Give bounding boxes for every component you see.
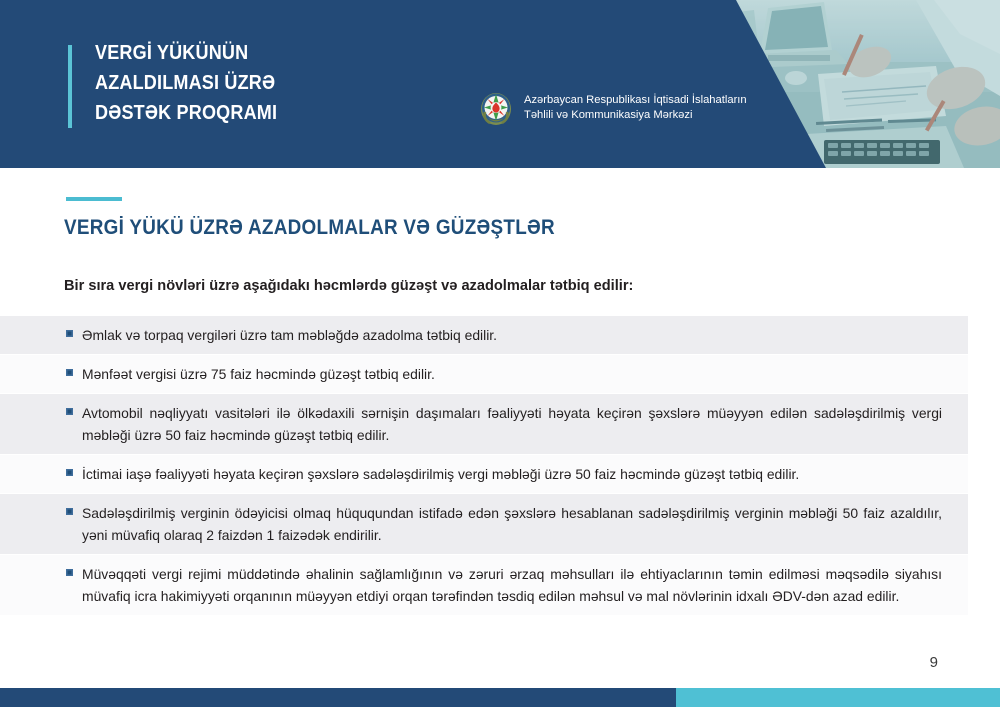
list-item-text: Müvəqqəti vergi rejimi müddətində əhalin… [66,563,942,607]
footer-bar-right [676,688,1000,707]
program-title-line-3: DƏSTƏK PROQRAMI [95,98,412,128]
list-item: Əmlak və torpaq vergiləri üzrə tam məblə… [0,316,968,355]
organization-name-line-1: Azərbaycan Respublikası İqtisadi İslahat… [524,94,747,106]
bullet-square-icon [66,508,73,515]
benefits-list: Əmlak və torpaq vergiləri üzrə tam məblə… [0,316,968,616]
azerbaijan-state-emblem-icon [478,88,514,128]
list-item: Avtomobil nəqliyyatı vasitələri ilə ölkə… [0,394,968,455]
lead-paragraph: Bir sıra vergi növləri üzrə aşağıdakı hə… [64,278,633,294]
list-item-text: Avtomobil nəqliyyatı vasitələri ilə ölkə… [66,402,942,446]
program-title-line-1: VERGİ YÜKÜNÜN [95,38,412,68]
section-title: VERGİ YÜKÜ ÜZRƏ AZADOLMALAR VƏ GÜZƏŞTLƏR [64,216,555,240]
footer-bar-left [0,688,676,707]
list-item: Sadələşdirilmiş verginin ödəyicisi olmaq… [0,494,968,555]
section-title-rule [66,197,122,201]
bullet-square-icon [66,408,73,415]
organization-name: Azərbaycan Respublikası İqtisadi İslahat… [524,93,747,123]
header-accent-bar [68,45,72,128]
list-item-text: Mənfəət vergisi üzrə 75 faiz həcmində gü… [66,363,942,385]
program-title: VERGİ YÜKÜNÜN AZALDILMASI ÜZRƏ DƏSTƏK PR… [95,38,412,128]
bullet-square-icon [66,369,73,376]
bullet-square-icon [66,469,73,476]
bullet-square-icon [66,569,73,576]
slide-header: VERGİ YÜKÜNÜN AZALDILMASI ÜZRƏ DƏSTƏK PR… [0,0,1000,168]
organization-lockup: Azərbaycan Respublikası İqtisadi İslahat… [478,88,747,128]
list-item: Mənfəət vergisi üzrə 75 faiz həcmində gü… [0,355,968,394]
slide-content: VERGİ YÜKÜ ÜZRƏ AZADOLMALAR VƏ GÜZƏŞTLƏR… [0,168,1000,688]
slide-footer [0,688,1000,707]
list-item: İctimai iaşə fəaliyyəti həyata keçirən ş… [0,455,968,494]
program-title-line-2: AZALDILMASI ÜZRƏ [95,68,412,98]
list-item: Müvəqqəti vergi rejimi müddətində əhalin… [0,555,968,616]
bullet-square-icon [66,330,73,337]
organization-name-line-2: Təhlili və Kommunikasiya Mərkəzi [524,109,693,121]
list-item-text: İctimai iaşə fəaliyyəti həyata keçirən ş… [66,463,942,485]
page-number: 9 [930,654,938,671]
list-item-text: Sadələşdirilmiş verginin ödəyicisi olmaq… [66,502,942,546]
list-item-text: Əmlak və torpaq vergiləri üzrə tam məblə… [66,324,942,346]
